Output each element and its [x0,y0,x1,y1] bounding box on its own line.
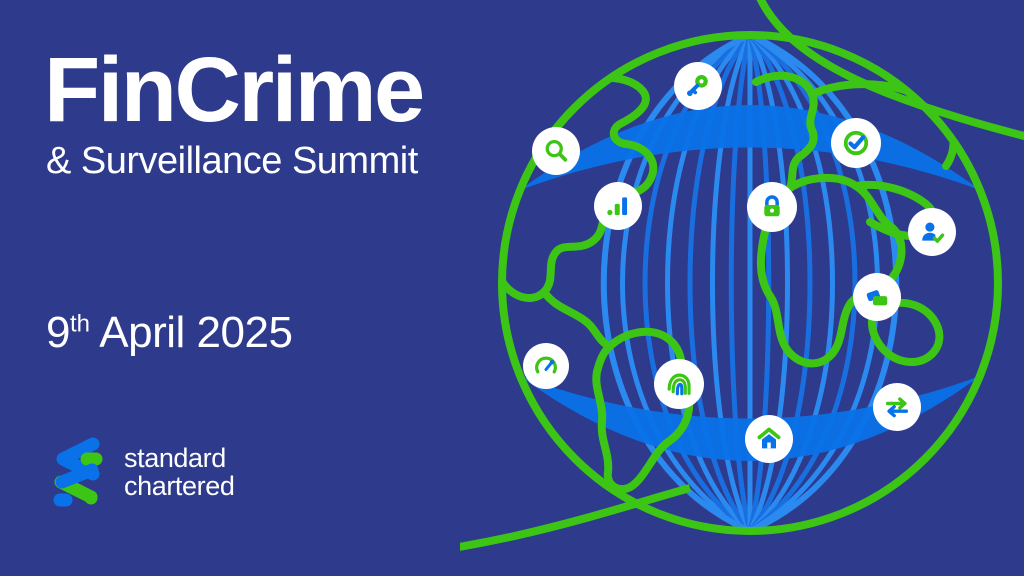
badge-verified [831,118,881,168]
badge-performance [523,343,569,389]
badge-transfers [873,383,921,431]
event-date-ordinal: th [70,310,90,337]
badge-payments [853,273,901,321]
brand-wordmark: standard chartered [124,444,234,500]
badge-search [532,127,580,175]
badge-identity [908,208,956,256]
globe-meridians [520,35,980,531]
bar-chart-icon [605,193,631,219]
standard-chartered-chevron-mark-icon [46,432,108,512]
brand-wordmark-line2: chartered [124,472,234,500]
search-icon [542,137,570,165]
page-subtitle: & Surveillance Summit [46,141,514,183]
gauge-icon [533,353,559,379]
padlock-icon [758,193,786,221]
transfer-icon [883,393,911,421]
globe-illustration [460,0,1024,576]
check-circle-icon [841,128,871,158]
brand-logo: standard chartered [46,432,234,512]
event-date-day: 9 [46,308,70,357]
slide-canvas: FinCrime & Surveillance Summit 9th April… [0,0,1024,576]
cards-icon [863,283,891,311]
badge-key [674,62,722,110]
key-icon [684,72,712,100]
badge-analytics [594,182,642,230]
badge-security [747,182,797,232]
fingerprint-icon [665,370,693,398]
brand-wordmark-line1: standard [124,444,234,472]
event-heading-block: FinCrime & Surveillance Summit [44,46,514,183]
user-verified-icon [918,218,946,246]
globe-ribbon-bottom [460,488,690,560]
page-title: FinCrime [44,46,514,135]
badge-home [745,415,793,463]
badge-biometrics [654,359,704,409]
event-date-rest: April 2025 [90,308,292,357]
event-date: 9th April 2025 [46,308,292,358]
home-icon [755,425,783,453]
